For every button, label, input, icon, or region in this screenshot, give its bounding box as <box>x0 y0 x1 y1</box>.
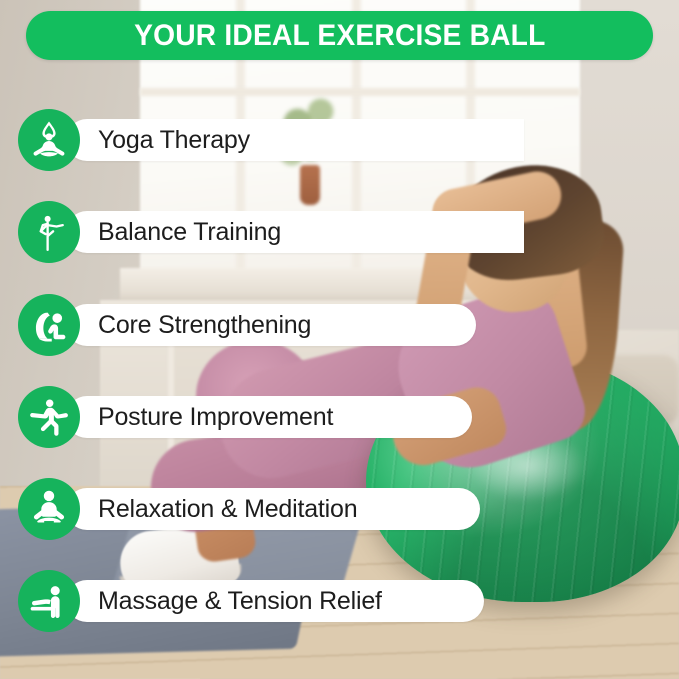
feature-pill: Core Strengthening <box>66 304 476 346</box>
feature-pill: Balance Training <box>66 211 524 253</box>
feature-badge <box>18 294 80 356</box>
core-crunch-icon <box>27 303 71 347</box>
feature-badge <box>18 386 80 448</box>
feature-pill: Relaxation & Meditation <box>66 488 480 530</box>
feature-row: Yoga Therapy <box>18 105 524 175</box>
product-infographic: YOUR IDEAL EXERCISE BALL Yoga Therapy <box>0 0 679 679</box>
feature-row: Posture Improvement <box>18 382 472 452</box>
meditation-lotus-icon <box>27 487 71 531</box>
feature-row: Core Strengthening <box>18 290 476 360</box>
feature-pill: Yoga Therapy <box>66 119 524 161</box>
feature-label: Core Strengthening <box>98 311 311 340</box>
feature-row: Balance Training <box>18 197 524 267</box>
feature-list: Yoga Therapy Bala <box>0 0 679 679</box>
feature-badge <box>18 201 80 263</box>
feature-label: Massage & Tension Relief <box>98 587 382 616</box>
feature-label: Relaxation & Meditation <box>98 495 357 524</box>
feature-badge <box>18 109 80 171</box>
feature-row: Relaxation & Meditation <box>18 474 480 544</box>
posture-warrior-pose-icon <box>27 395 71 439</box>
feature-badge <box>18 570 80 632</box>
balance-dancer-pose-icon <box>27 210 71 254</box>
feature-row: Massage & Tension Relief <box>18 566 484 636</box>
massage-relief-icon <box>27 579 71 623</box>
feature-label: Balance Training <box>98 218 281 247</box>
feature-label: Yoga Therapy <box>98 126 250 155</box>
feature-label: Posture Improvement <box>98 403 333 432</box>
feature-pill: Posture Improvement <box>66 396 472 438</box>
feature-badge <box>18 478 80 540</box>
yoga-lotus-arms-up-icon <box>27 118 71 162</box>
feature-pill: Massage & Tension Relief <box>66 580 484 622</box>
